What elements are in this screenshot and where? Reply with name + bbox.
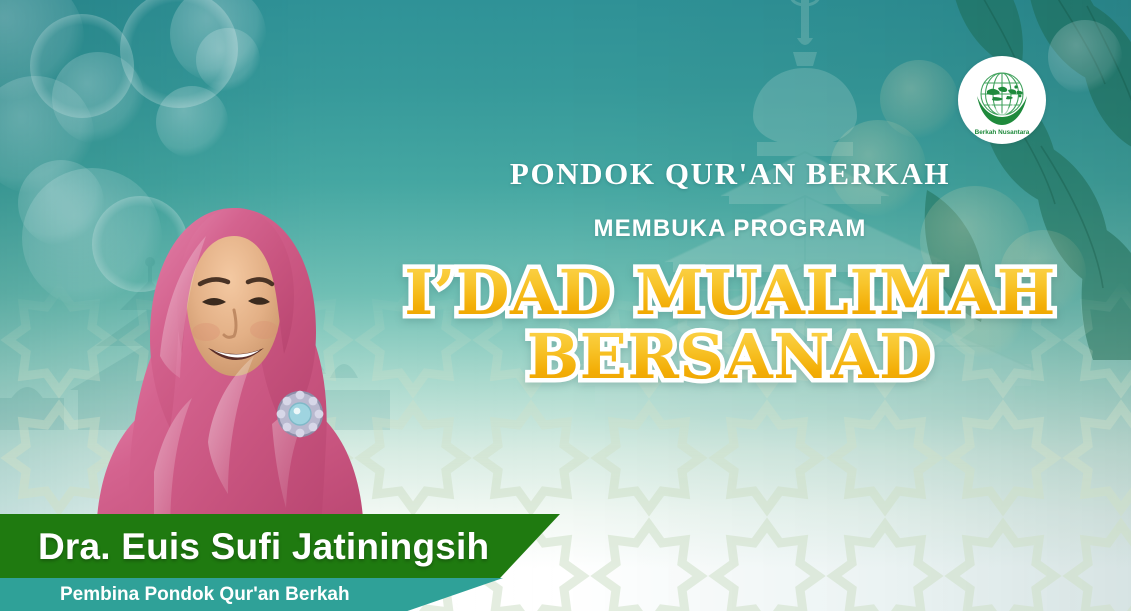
speaker-portrait xyxy=(58,142,388,542)
organization-logo[interactable]: Berkah Nusantara xyxy=(958,56,1046,144)
speaker-name: Dra. Euis Sufi Jatiningsih xyxy=(38,528,489,565)
berkah-nusantara-logo-icon: Berkah Nusantara xyxy=(963,61,1041,139)
svg-text:Berkah Nusantara: Berkah Nusantara xyxy=(975,129,1030,136)
poster-canvas: Berkah Nusantara xyxy=(0,0,1131,611)
organization-name: PONDOK QUR'AN BERKAH xyxy=(385,158,1075,189)
speaker-name-banner: Dra. Euis Sufi Jatiningsih xyxy=(0,514,560,578)
program-title-line-2-fill: BERSANAD xyxy=(385,327,1075,387)
program-title-line-1: I’DAD MUALIMAH I’DAD MUALIMAH xyxy=(385,263,1075,323)
program-title-line-1-fill: I’DAD MUALIMAH xyxy=(385,263,1075,323)
program-title-line-2: BERSANAD BERSANAD xyxy=(385,327,1075,387)
headline-block: PONDOK QUR'AN BERKAH MEMBUKA PROGRAM I’D… xyxy=(385,158,1075,387)
program-intro-label: MEMBUKA PROGRAM xyxy=(385,217,1075,241)
speaker-role: Pembina Pondok Qur'an Berkah xyxy=(60,585,350,604)
program-title: I’DAD MUALIMAH I’DAD MUALIMAH BERSANAD B… xyxy=(385,263,1075,387)
